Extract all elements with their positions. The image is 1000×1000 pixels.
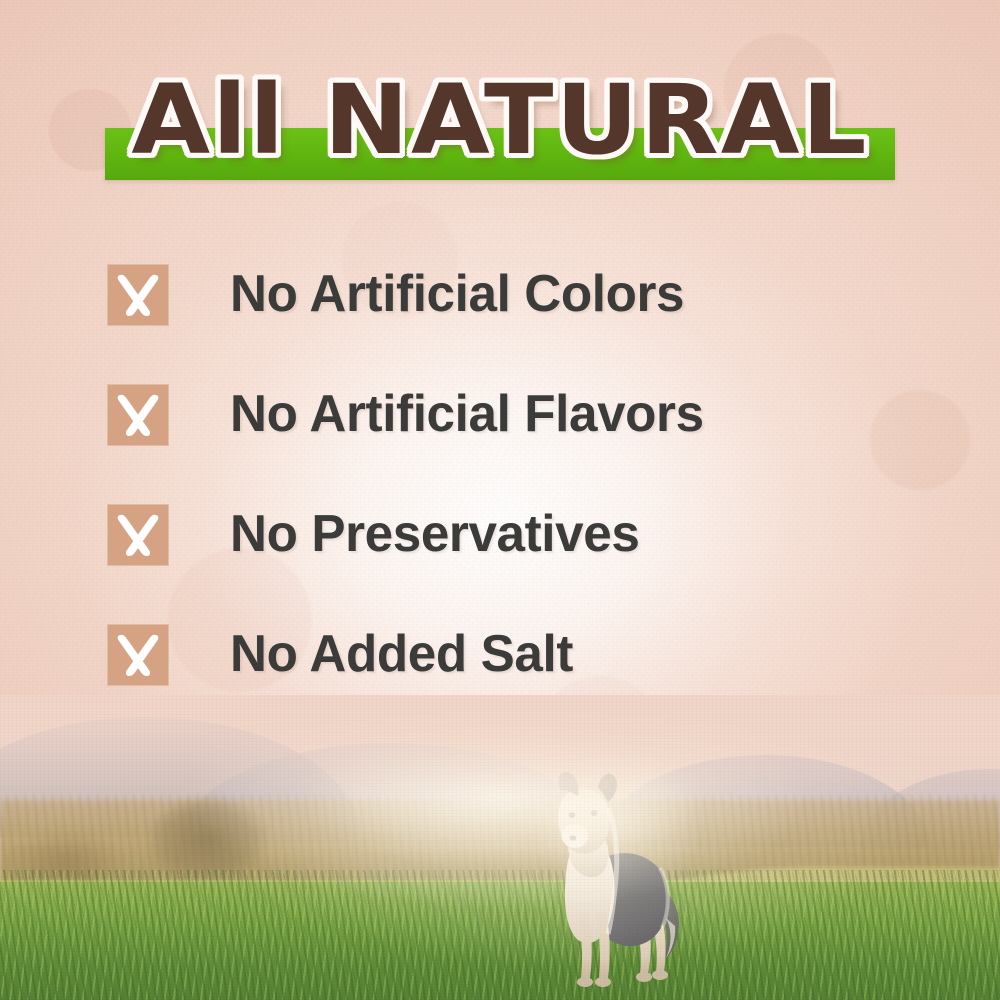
list-item-label: No Preservatives [230, 492, 639, 576]
grass-blade-texture [0, 870, 1000, 1000]
list-item-label: No Added Salt [230, 612, 573, 696]
all-natural-product-poster: All NATURAL No Artificial Colors No Arti… [0, 0, 1000, 1000]
list-item-label: No Artificial Flavors [230, 372, 704, 456]
title-block: All NATURAL [0, 66, 1000, 196]
list-item: No Artificial Flavors [107, 378, 927, 498]
dog-photo-subject [516, 768, 716, 998]
list-item: No Artificial Colors [107, 258, 927, 378]
list-item: No Preservatives [107, 498, 927, 618]
landscape-photo [0, 695, 1000, 1000]
x-mark-icon [107, 504, 169, 566]
x-mark-icon [107, 624, 169, 686]
list-item-label: No Artificial Colors [230, 252, 684, 336]
feature-list: No Artificial Colors No Artificial Flavo… [107, 258, 927, 738]
page-title: All NATURAL [0, 66, 1000, 174]
x-mark-icon [107, 264, 169, 326]
x-mark-icon [107, 384, 169, 446]
